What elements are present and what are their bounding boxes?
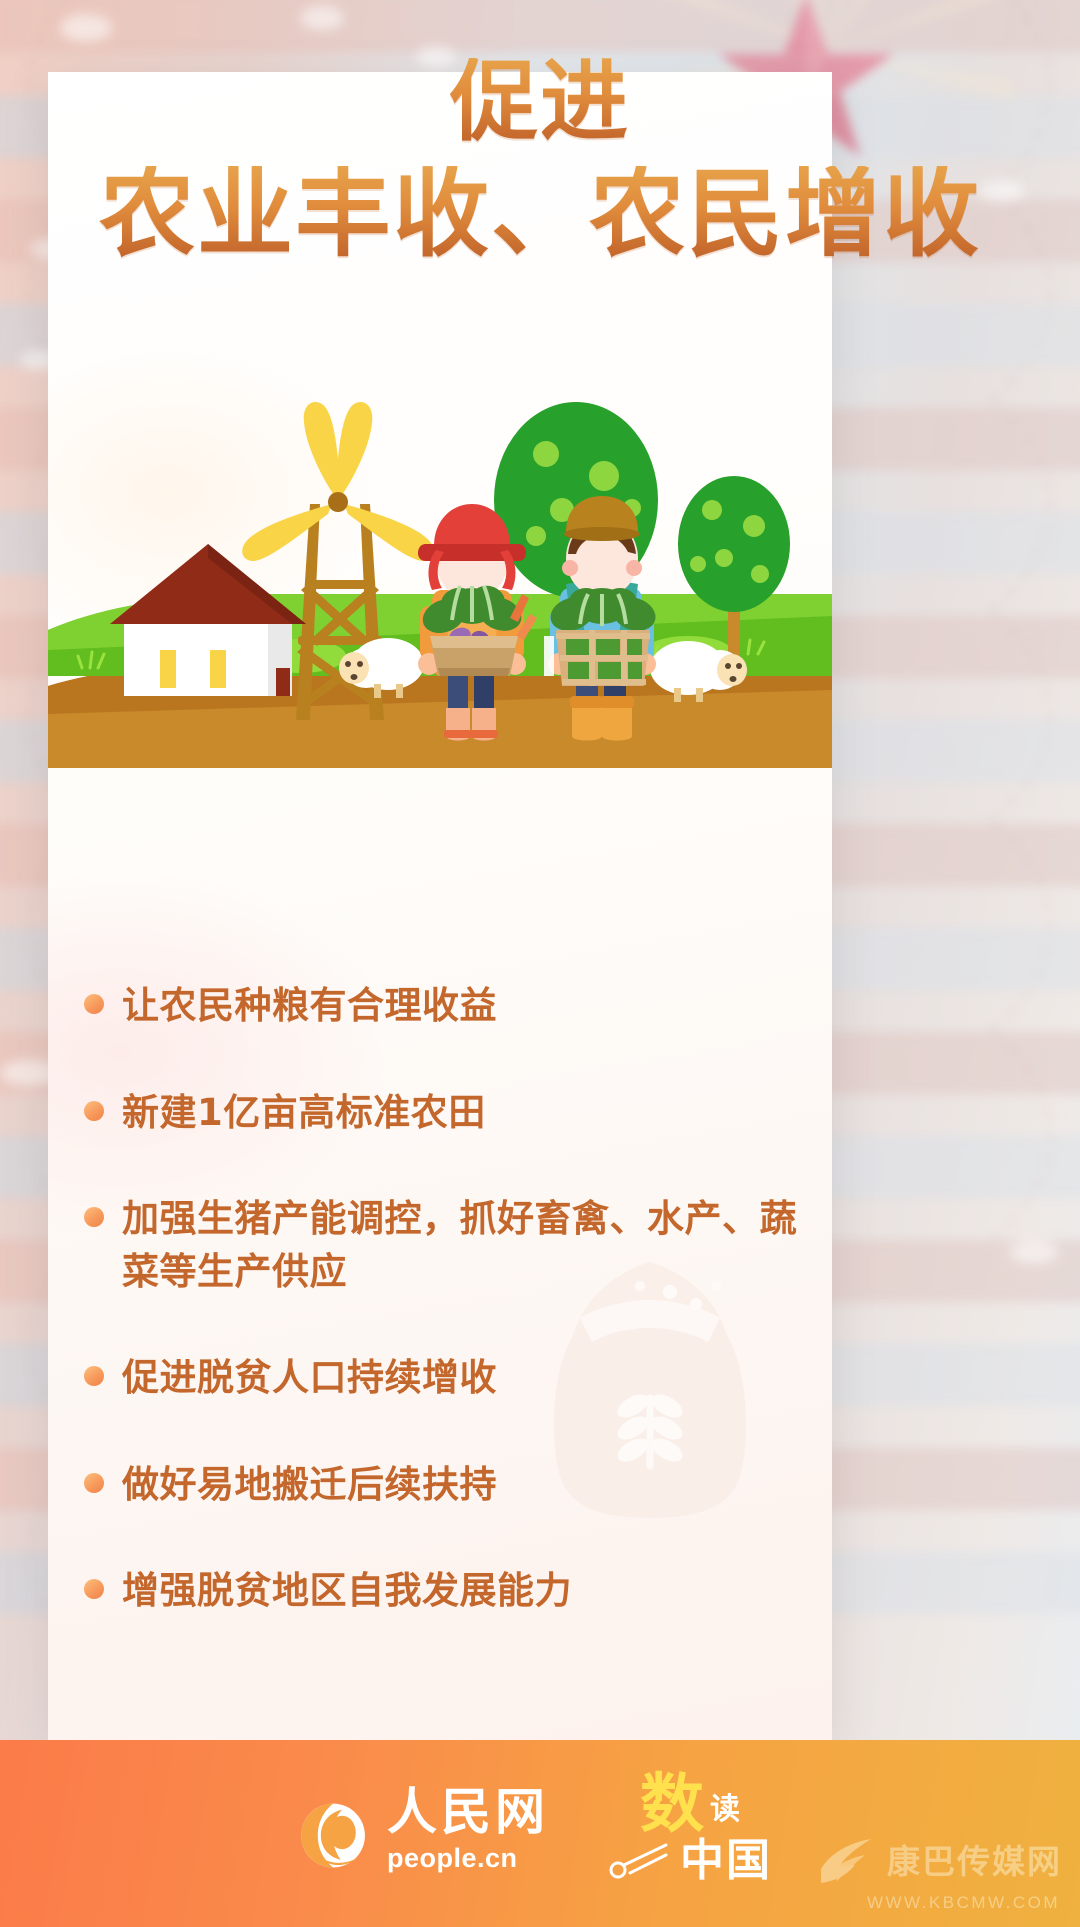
page-title: 促进 农业丰收、农民增收 <box>0 58 1080 262</box>
bullet-list: 让农民种粮有合理收益 新建1亿亩高标准农田 加强生猪产能调控，抓好畜禽、水产、蔬… <box>48 980 832 1672</box>
shudu-zhongguo-label: 中国 <box>680 1839 772 1883</box>
list-item: 增强脱贫地区自我发展能力 <box>48 1565 832 1618</box>
list-item-label: 让农民种粮有合理收益 <box>122 980 497 1033</box>
house-window <box>160 650 176 688</box>
list-item: 新建1亿亩高标准农田 <box>48 1087 832 1140</box>
watermark-name: 康巴传媒网 <box>887 1845 1062 1878</box>
list-item: 做好易地搬迁后续扶持 <box>48 1459 832 1512</box>
magnifier-line-icon <box>608 1843 670 1879</box>
list-item-label: 加强生猪产能调控，抓好畜禽、水产、蔬菜等生产供应 <box>122 1193 812 1298</box>
list-item-label: 促进脱贫人口持续增收 <box>122 1352 497 1405</box>
list-item: 加强生猪产能调控，抓好畜禽、水产、蔬菜等生产供应 <box>48 1193 832 1298</box>
shudu-zhongguo-logo[interactable]: 数 读 中国 <box>595 1776 785 1884</box>
bullet-dot-icon <box>84 1366 104 1386</box>
people-cn-domain: people.cn <box>387 1845 518 1872</box>
list-item: 促进脱贫人口持续增收 <box>48 1352 832 1405</box>
list-item-label: 新建1亿亩高标准农田 <box>122 1087 486 1140</box>
shudu-du-label: 读 <box>710 1795 740 1833</box>
title-line-1: 促进 <box>0 58 1080 146</box>
farm-scene-illustration <box>48 368 832 768</box>
background-dot <box>60 14 112 42</box>
background-dot <box>300 6 344 30</box>
people-cn-logo[interactable]: 人民网 people.cn <box>295 1787 549 1872</box>
bullet-dot-icon <box>84 1207 104 1227</box>
shudu-shu-label: 数 <box>640 1776 704 1834</box>
bullet-dot-icon <box>84 1579 104 1599</box>
list-item-label: 做好易地搬迁后续扶持 <box>122 1459 497 1512</box>
watermark-url: WWW.KBCMW.COM <box>867 1893 1060 1913</box>
house-window <box>210 650 226 688</box>
title-line-2: 农业丰收、农民增收 <box>0 166 1080 262</box>
list-item: 让农民种粮有合理收益 <box>48 980 832 1033</box>
house-door <box>276 668 290 696</box>
farmhouse <box>110 544 306 696</box>
bullet-dot-icon <box>84 994 104 1014</box>
fence-post <box>544 636 554 676</box>
background-scallop <box>970 0 1080 1927</box>
people-cn-label: 人民网 <box>387 1787 549 1837</box>
windmill-blades <box>242 402 434 561</box>
bullet-dot-icon <box>84 1101 104 1121</box>
people-globe-icon <box>295 1796 371 1872</box>
bullet-dot-icon <box>84 1473 104 1493</box>
vegetable-crate <box>546 588 660 686</box>
site-watermark: 康巴传媒网 WWW.KBCMW.COM <box>815 1835 1062 1913</box>
background-dot <box>1010 1240 1058 1264</box>
list-item-label: 增强脱贫地区自我发展能力 <box>122 1565 572 1618</box>
kbcmw-logo-icon <box>815 1835 877 1887</box>
